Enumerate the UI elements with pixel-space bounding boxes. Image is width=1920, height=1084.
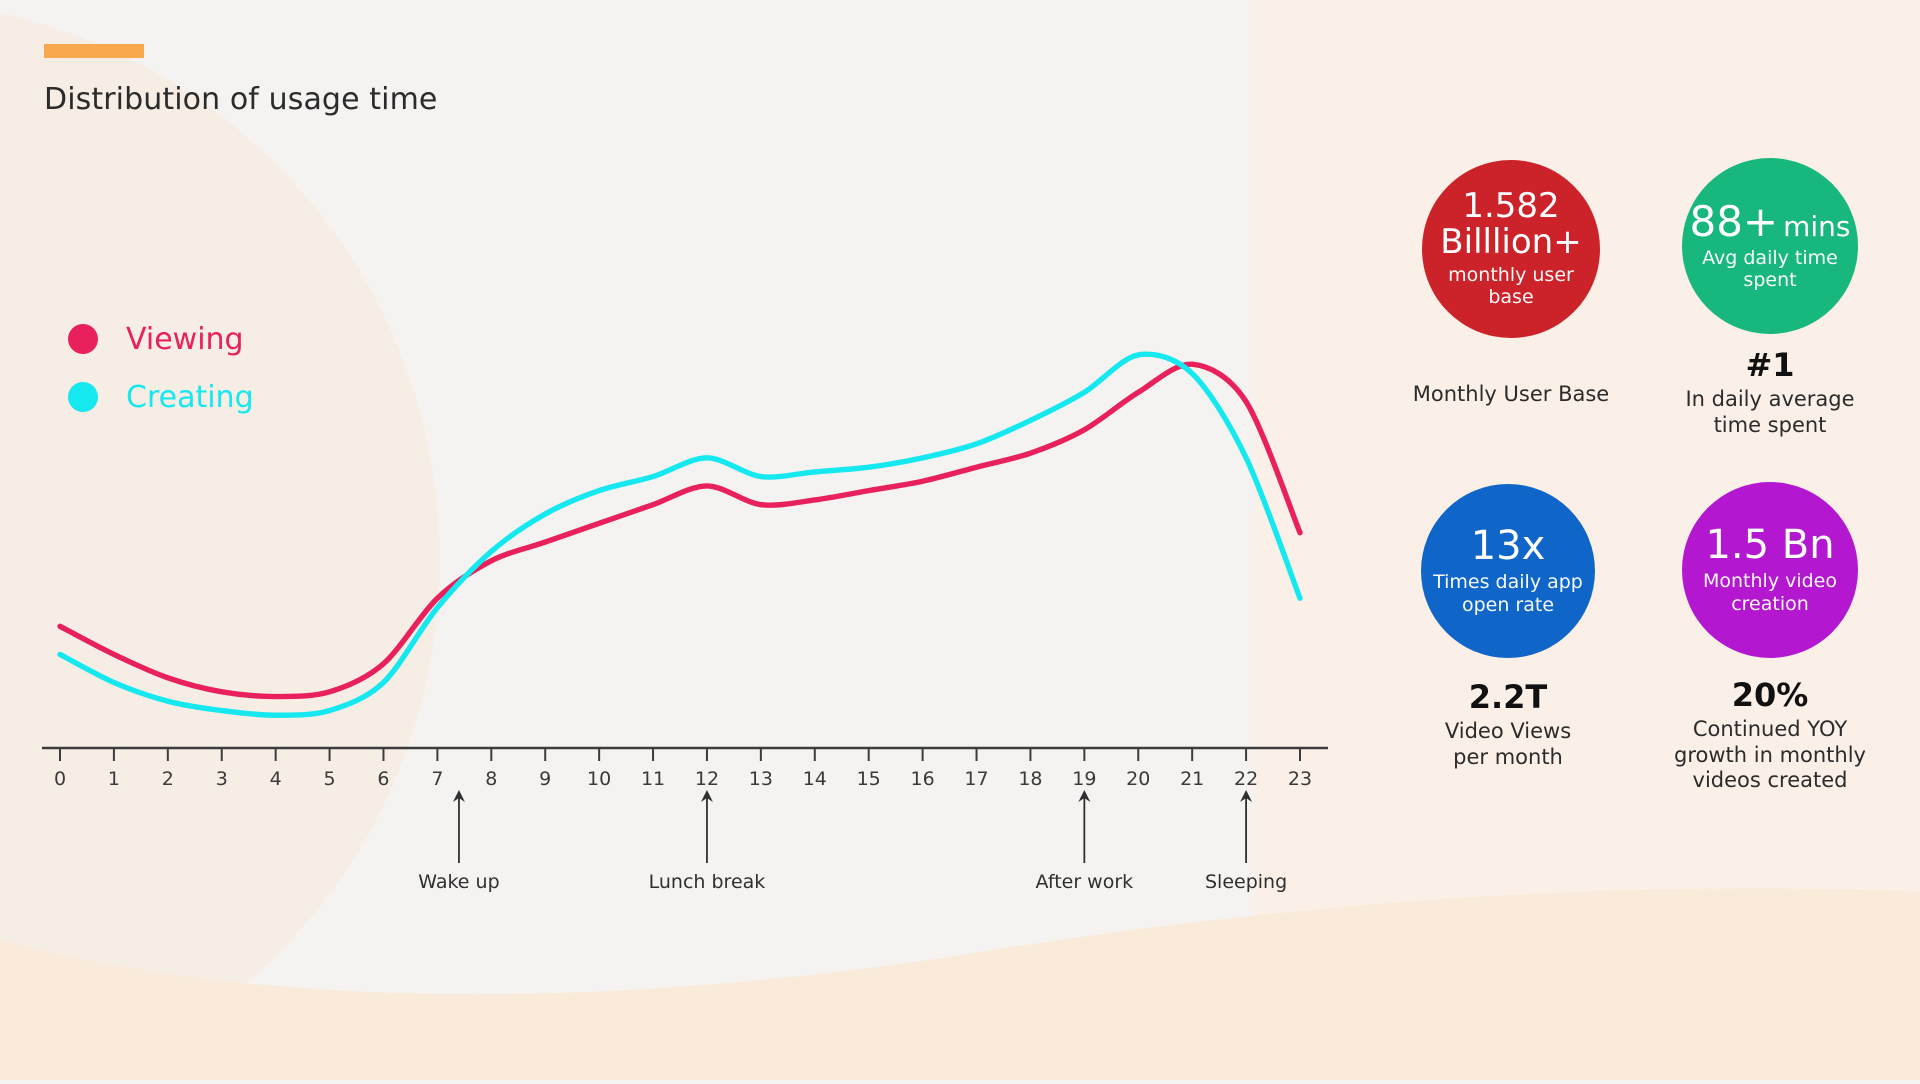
stat-circle-app-open-rate: 13x Times daily app open rate (1421, 484, 1595, 658)
stat-sub-avg-daily-time: Avg daily time spent (1702, 247, 1838, 292)
stat-value2-monthly-user-base: Billlion+ (1440, 225, 1581, 260)
legend-dot-creating (68, 382, 98, 412)
x-axis-tick-label: 21 (1180, 768, 1204, 790)
stat-circle-avg-daily-time: 88+ mins Avg daily time spent (1682, 158, 1858, 334)
annotation-label: Lunch break (649, 871, 766, 893)
x-axis-tick-label: 13 (749, 768, 773, 790)
stat-value-avg-daily-time: 88+ (1689, 200, 1778, 244)
x-axis-tick-label: 8 (485, 768, 497, 790)
legend-dot-viewing (68, 324, 98, 354)
chart-legend: Viewing Creating (68, 310, 254, 426)
usage-time-line-chart: 01234567891011121314151617181920212223 W… (0, 0, 1340, 1080)
x-axis-tick-label: 15 (857, 768, 881, 790)
x-axis-tick-label: 5 (324, 768, 336, 790)
x-axis-tick-label: 7 (431, 768, 443, 790)
x-axis-tick-label: 14 (803, 768, 827, 790)
x-axis-tick-label: 6 (377, 768, 389, 790)
x-axis-tick-label: 18 (1018, 768, 1042, 790)
annotation-label: Wake up (418, 871, 499, 893)
stat-caption-avg-daily-time: In daily average time spent (1620, 387, 1920, 438)
stat-caption-app-open-rate: Video Views per month (1368, 719, 1648, 770)
stat-value-unit-avg-daily-time: mins (1783, 212, 1850, 241)
x-axis-tick-label: 0 (54, 768, 66, 790)
stat-sub-app-open-rate: Times daily app open rate (1433, 571, 1583, 616)
x-axis-tick-label: 4 (270, 768, 282, 790)
chart-plot (0, 0, 1340, 1080)
x-axis-tick-label: 16 (911, 768, 935, 790)
stat-sub-monthly-video-creation: Monthly video creation (1703, 570, 1837, 615)
legend-item-viewing[interactable]: Viewing (68, 310, 254, 368)
x-axis-tick-label: 22 (1234, 768, 1258, 790)
stat-card-monthly-video-creation[interactable]: 1.5 Bn Monthly video creation 20% Contin… (1620, 482, 1920, 794)
stat-caption-big-monthly-video-creation: 20% (1620, 676, 1920, 714)
x-axis-tick-label: 3 (216, 768, 228, 790)
stat-circle-monthly-video-creation: 1.5 Bn Monthly video creation (1682, 482, 1858, 658)
x-axis-tick-label: 10 (587, 768, 611, 790)
x-axis-tick-label: 19 (1072, 768, 1096, 790)
stat-caption-big-avg-daily-time: #1 (1620, 346, 1920, 384)
stat-value-monthly-user-base: 1.582 (1462, 189, 1559, 224)
stat-caption-monthly-user-base: Monthly User Base (1376, 382, 1646, 408)
annotation-arrows (453, 790, 1252, 863)
x-axis-tick-marks (60, 748, 1300, 761)
stat-value-row-avg-daily-time: 88+ mins (1689, 200, 1850, 244)
stat-caption-big-app-open-rate: 2.2T (1368, 678, 1648, 716)
stat-card-avg-daily-time[interactable]: 88+ mins Avg daily time spent #1 In dail… (1620, 158, 1920, 438)
stats-panel: 1.582 Billlion+ monthly user base Monthl… (1380, 0, 1920, 1080)
x-axis-tick-label: 12 (695, 768, 719, 790)
annotation-label: After work (1036, 871, 1134, 893)
x-axis-tick-label: 9 (539, 768, 551, 790)
page-title: Distribution of usage time (44, 82, 437, 117)
legend-label-viewing: Viewing (126, 322, 244, 357)
annotation-label: Sleeping (1205, 871, 1287, 893)
stat-value-app-open-rate: 13x (1471, 526, 1546, 568)
stat-card-app-open-rate[interactable]: 13x Times daily app open rate 2.2T Video… (1368, 484, 1648, 770)
x-axis-tick-label: 17 (964, 768, 988, 790)
x-axis-tick-label: 20 (1126, 768, 1150, 790)
legend-label-creating: Creating (126, 380, 254, 415)
x-axis-tick-label: 1 (108, 768, 120, 790)
x-axis-tick-label: 11 (641, 768, 665, 790)
stat-card-monthly-user-base[interactable]: 1.582 Billlion+ monthly user base Monthl… (1376, 160, 1646, 408)
stat-circle-monthly-user-base: 1.582 Billlion+ monthly user base (1422, 160, 1600, 338)
accent-bar (44, 44, 144, 58)
stat-value-monthly-video-creation: 1.5 Bn (1705, 525, 1834, 567)
legend-item-creating[interactable]: Creating (68, 368, 254, 426)
x-axis-tick-label: 23 (1288, 768, 1312, 790)
x-axis-tick-label: 2 (162, 768, 174, 790)
stat-caption-monthly-video-creation: Continued YOY growth in monthly videos c… (1620, 717, 1920, 794)
stat-sub-monthly-user-base: monthly user base (1448, 264, 1574, 309)
